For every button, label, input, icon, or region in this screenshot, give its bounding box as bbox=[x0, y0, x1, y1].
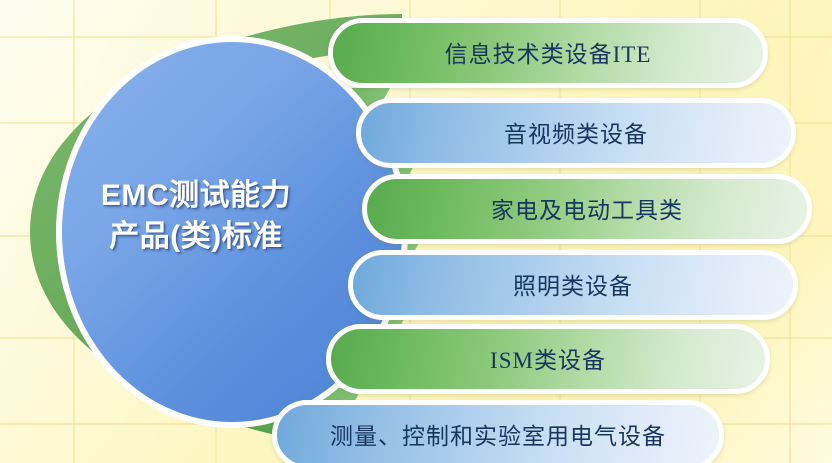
node-label-ism: ISM类设备 bbox=[490, 341, 606, 377]
node-label-lab: 测量、控制和实验室用电气设备 bbox=[330, 417, 666, 453]
node-label-lighting: 照明类设备 bbox=[513, 267, 633, 303]
emc-capability-diagram: EMC测试能力 产品(类)标准 信息技术类设备ITE 音视频类设备 家电及电动工… bbox=[0, 0, 832, 463]
node-pill-appliance[interactable]: 家电及电动工具类 bbox=[362, 174, 812, 244]
node-pill-av[interactable]: 音视频类设备 bbox=[356, 98, 796, 168]
node-pill-lighting[interactable]: 照明类设备 bbox=[348, 250, 798, 320]
node-label-av: 音视频类设备 bbox=[504, 115, 648, 151]
node-label-ite: 信息技术类设备ITE bbox=[445, 35, 652, 71]
node-pill-ism[interactable]: ISM类设备 bbox=[326, 324, 770, 394]
node-label-appliance: 家电及电动工具类 bbox=[491, 191, 683, 227]
node-pill-ite[interactable]: 信息技术类设备ITE bbox=[328, 18, 768, 88]
node-pill-lab[interactable]: 测量、控制和实验室用电气设备 bbox=[272, 400, 724, 463]
